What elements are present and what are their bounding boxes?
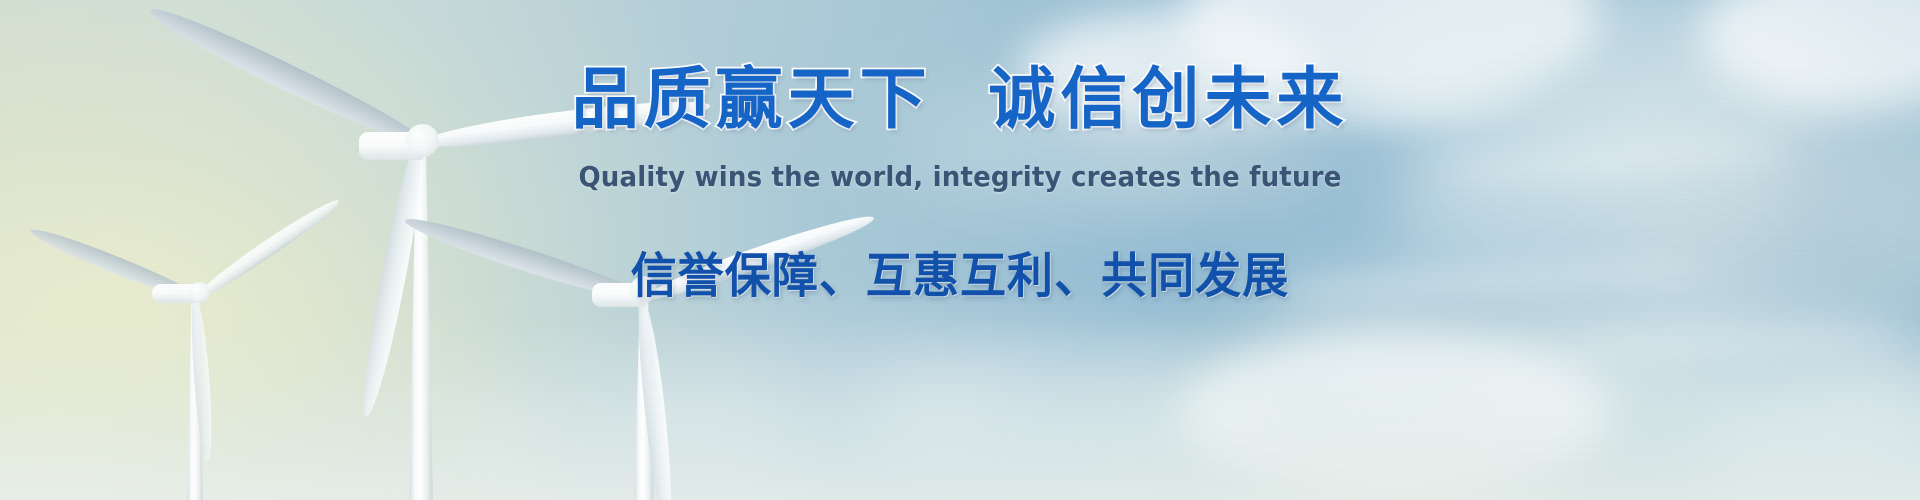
- promo-banner: 品质赢天下 诚信创未来 Quality wins the world, inte…: [0, 0, 1920, 500]
- banner-tagline: 信誉保障、互惠互利、共同发展: [38, 252, 1881, 300]
- banner-headline: 品质赢天下 诚信创未来: [0, 66, 1920, 133]
- banner-subline-english: Quality wins the world, integrity create…: [67, 163, 1853, 191]
